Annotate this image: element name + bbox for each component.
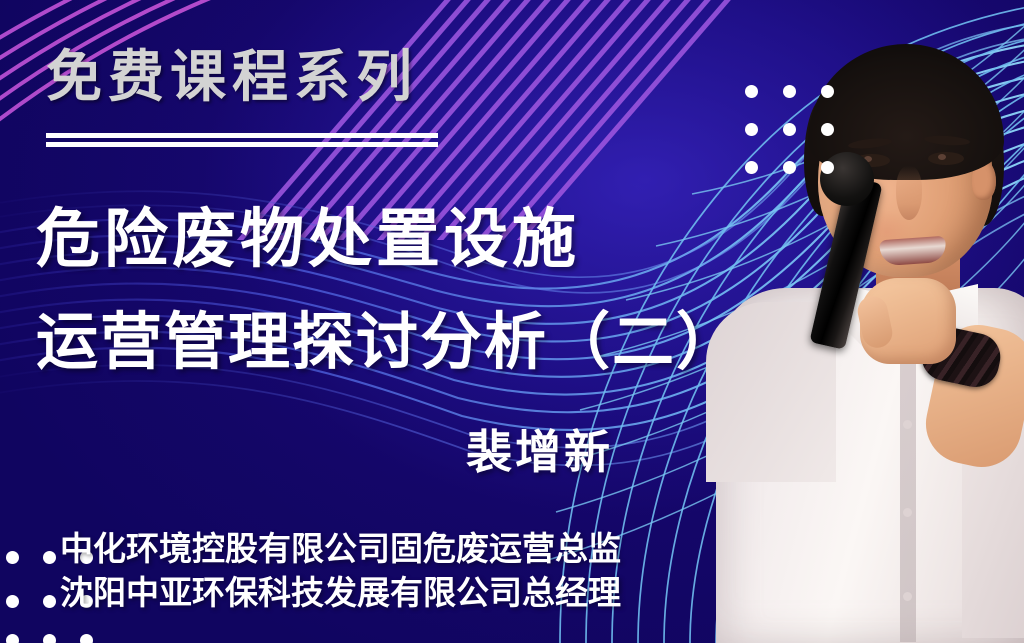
decor-dot bbox=[80, 634, 93, 643]
kicker-text: 免费课程系列 bbox=[46, 50, 418, 106]
speaker-affiliation-2: 沈阳中亚环保科技发展有限公司总经理 bbox=[60, 578, 621, 611]
page-title-line-2: 运营管理探讨分析（二） bbox=[36, 312, 740, 374]
decor-dot bbox=[6, 595, 19, 608]
speaker-name: 裴增新 bbox=[466, 430, 613, 476]
decor-dot bbox=[43, 595, 56, 608]
decor-dot bbox=[6, 551, 19, 564]
decor-dot bbox=[43, 551, 56, 564]
underline-bar bbox=[46, 133, 438, 138]
speaker-affiliation-1: 中化环境控股有限公司固危废运营总监 bbox=[60, 534, 621, 567]
decor-dot bbox=[43, 634, 56, 643]
underline-bar bbox=[46, 142, 438, 147]
title-underline bbox=[46, 133, 438, 147]
decor-dot bbox=[6, 634, 19, 643]
page-title-line-1: 危险废物处置设施 bbox=[36, 208, 580, 272]
poster-canvas: 免费课程系列 危险废物处置设施 运营管理探讨分析（二） 裴增新 中化环境控股有限… bbox=[0, 0, 1024, 643]
